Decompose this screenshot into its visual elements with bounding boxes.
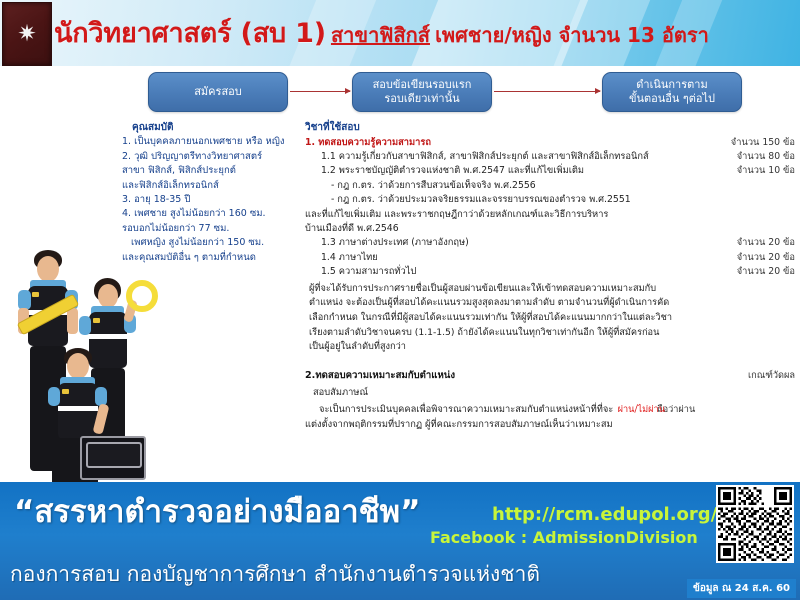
equipment-case xyxy=(80,436,146,480)
subject-row: 1.3 ภาษาต่างประเทศ (ภาษาอังกฤษ) จำนวน 20… xyxy=(305,236,800,250)
subject-row: และที่แก้ไขเพิ่มเติม และพระราชกฤษฎีกาว่า… xyxy=(305,208,800,222)
police-emblem: ✷ xyxy=(2,2,52,66)
subject-text: และที่แก้ไขเพิ่มเติม และพระราชกฤษฎีกาว่า… xyxy=(305,208,608,222)
title-branch: สาขาฟิสิกส์ xyxy=(331,23,430,47)
qualification-item: 3. อายุ 18-35 ปี xyxy=(122,193,312,207)
facebook-handle[interactable]: Facebook : AdmissionDivision xyxy=(430,528,698,547)
process-flow: สมัครสอบ สอบข้อเขียนรอบแรก รอบเดียวเท่าน… xyxy=(0,66,800,120)
footer-slogan: “สรรหาตำรวจอย่างมืออาชีพ” xyxy=(14,486,420,536)
section-2-subtitle: สอบสัมภาษณ์ xyxy=(305,386,800,400)
subject-row: บ้านเมืองที่ดี พ.ศ.2546 xyxy=(305,222,800,236)
subjects-block: วิชาที่ใช้สอบ 1. ทดสอบความรู้ความสามารถ … xyxy=(305,120,800,432)
subject-row: - กฎ ก.ตร. ว่าด้วยการสืบสวนข้อเท็จจริง พ… xyxy=(305,179,800,193)
subject-text: 1.1 ความรู้เกี่ยวกับสาขาฟิสิกส์, สาขาฟิส… xyxy=(321,150,649,164)
section-2-title: 2.ทดสอบความเหมาะสมกับตำแหน่ง xyxy=(305,370,455,381)
flow-step-next-steps: ดำเนินการตาม ขั้นตอนอื่น ๆต่อไป xyxy=(602,72,742,112)
subject-text: 1.5 ความสามารถทั่วไป xyxy=(321,265,416,279)
qualification-item: และฟิสิกส์อิเล็กทรอนิกส์ xyxy=(122,179,312,193)
website-url[interactable]: http://rcm.edupol.org/ xyxy=(492,504,717,525)
flow-step-label-line1: สอบข้อเขียนรอบแรก xyxy=(373,78,472,91)
flow-step-apply: สมัครสอบ xyxy=(148,72,288,112)
poster-root: ✷ นักวิทยาศาสตร์ (สบ 1) สาขาฟิสิกส์ เพศช… xyxy=(0,0,800,600)
subject-qty: จำนวน 20 ข้อ xyxy=(737,251,795,265)
section-2-body: จะเป็นการประเมินบุคคลเพื่อพิจารณาความเหม… xyxy=(305,403,670,432)
selection-criteria-paragraph: ผู้ที่จะได้รับการประกาศรายชื่อเป็นผู้สอบ… xyxy=(305,282,674,356)
subject-text: 1.3 ภาษาต่างประเทศ (ภาษาอังกฤษ) xyxy=(321,236,469,250)
subject-text: - กฎ ก.ตร. ว่าด้วยการสืบสวนข้อเท็จจริง พ… xyxy=(331,179,536,193)
subject-qty: จำนวน 10 ข้อ xyxy=(737,164,795,178)
flow-step-written-exam: สอบข้อเขียนรอบแรก รอบเดียวเท่านั้น xyxy=(352,72,492,112)
header-banner: ✷ นักวิทยาศาสตร์ (สบ 1) สาขาฟิสิกส์ เพศช… xyxy=(0,0,800,66)
criteria-heading: เกณฑ์วัดผล xyxy=(748,369,795,383)
subject-row: 1.4 ภาษาไทย จำนวน 20 ข้อ xyxy=(305,251,800,265)
flow-step-label: สอบข้อเขียนรอบแรก รอบเดียวเท่านั้น xyxy=(373,78,472,106)
subject-text: บ้านเมืองที่ดี พ.ศ.2546 xyxy=(305,222,399,236)
subjects-heading: วิชาที่ใช้สอบ xyxy=(305,120,800,136)
qr-code-icon[interactable] xyxy=(716,485,794,563)
section-2-body-line1: จะเป็นการประเมินบุคคลเพื่อพิจารณาความเหม… xyxy=(305,403,670,417)
organization-name: กองการสอบ กองบัญชาการศึกษา สำนักงานตำรวจ… xyxy=(10,558,540,591)
subject-row: 1.5 ความสามารถทั่วไป จำนวน 20 ข้อ xyxy=(305,265,800,279)
flow-step-label: สมัครสอบ xyxy=(194,85,242,99)
flow-arrow-icon xyxy=(290,91,350,92)
section-2-body-line2: แต่งตั้งจากพฤติกรรมที่ปรากฏ ผู้ที่คณะกรร… xyxy=(305,418,670,432)
qualifications-heading: คุณสมบัติ xyxy=(132,120,312,135)
subject-text: - กฎ ก.ตร. ว่าด้วยประมวลจริยธรรมและจรรยา… xyxy=(331,193,631,207)
qualification-item: 2. วุฒิ ปริญญาตรีทางวิทยาศาสตร์ xyxy=(122,150,312,164)
subject-section-1-qty: จำนวน 150 ข้อ xyxy=(731,136,795,150)
subject-qty: จำนวน 20 ข้อ xyxy=(737,265,795,279)
content-area: คุณสมบัติ 1. เป็นบุคคลภายนอกเพศชาย หรือ … xyxy=(0,120,800,482)
subject-qty: จำนวน 20 ข้อ xyxy=(737,236,795,250)
subject-qty: จำนวน 80 ข้อ xyxy=(737,150,795,164)
officers-photo xyxy=(2,240,152,490)
subject-row: - กฎ ก.ตร. ว่าด้วยประมวลจริยธรรมและจรรยา… xyxy=(305,193,800,207)
flow-step-label: ดำเนินการตาม ขั้นตอนอื่น ๆต่อไป xyxy=(629,78,715,106)
subject-section-1-title: 1. ทดสอบความรู้ความสามารถ xyxy=(305,136,431,150)
data-date-badge: ข้อมูล ณ 24 ส.ค. 60 xyxy=(687,579,796,598)
subject-row: 1.2 พระราชบัญญัติตำรวจแห่งชาติ พ.ศ.2547 … xyxy=(305,164,800,178)
qualification-item: 1. เป็นบุคคลภายนอกเพศชาย หรือ หญิง xyxy=(122,135,312,149)
qualification-item: 4. เพศชาย สูงไม่น้อยกว่า 160 ซม. xyxy=(122,207,312,221)
title-rest: เพศชาย/หญิง จำนวน 13 อัตรา xyxy=(435,23,709,47)
flow-step-label-line2: ขั้นตอนอื่น ๆต่อไป xyxy=(629,92,715,105)
eight-point-star-icon: ✷ xyxy=(16,23,38,45)
subject-row: 1.1 ความรู้เกี่ยวกับสาขาฟิสิกส์, สาขาฟิส… xyxy=(305,150,800,164)
subject-text: 1.4 ภาษาไทย xyxy=(321,251,378,265)
flow-step-label-line2: รอบเดียวเท่านั้น xyxy=(384,92,459,105)
title-position: นักวิทยาศาสตร์ (สบ 1) xyxy=(54,18,326,49)
qualification-item: เพศหญิง สูงไม่น้อยกว่า 150 ซม. xyxy=(131,236,312,250)
qualification-item: รอบอกไม่น้อยกว่า 77 ซม. xyxy=(122,222,312,236)
flow-arrow-icon xyxy=(494,91,600,92)
qualification-item: สาขา ฟิสิกส์, ฟิสิกส์ประยุกต์ xyxy=(122,164,312,178)
subject-text: 1.2 พระราชบัญญัติตำรวจแห่งชาติ พ.ศ.2547 … xyxy=(321,164,584,178)
section-2-block: 2.ทดสอบความเหมาะสมกับตำแหน่ง เกณฑ์วัดผล … xyxy=(305,369,800,432)
flow-step-label-line1: ดำเนินการตาม xyxy=(636,78,707,91)
result-value: ผ่าน/ไม่ผ่าน xyxy=(618,403,665,417)
footer-banner: “สรรหาตำรวจอย่างมืออาชีพ” http://rcm.edu… xyxy=(0,482,800,600)
page-title: นักวิทยาศาสตร์ (สบ 1) สาขาฟิสิกส์ เพศชาย… xyxy=(54,14,796,54)
subject-section-1: 1. ทดสอบความรู้ความสามารถ จำนวน 150 ข้อ xyxy=(305,136,800,150)
